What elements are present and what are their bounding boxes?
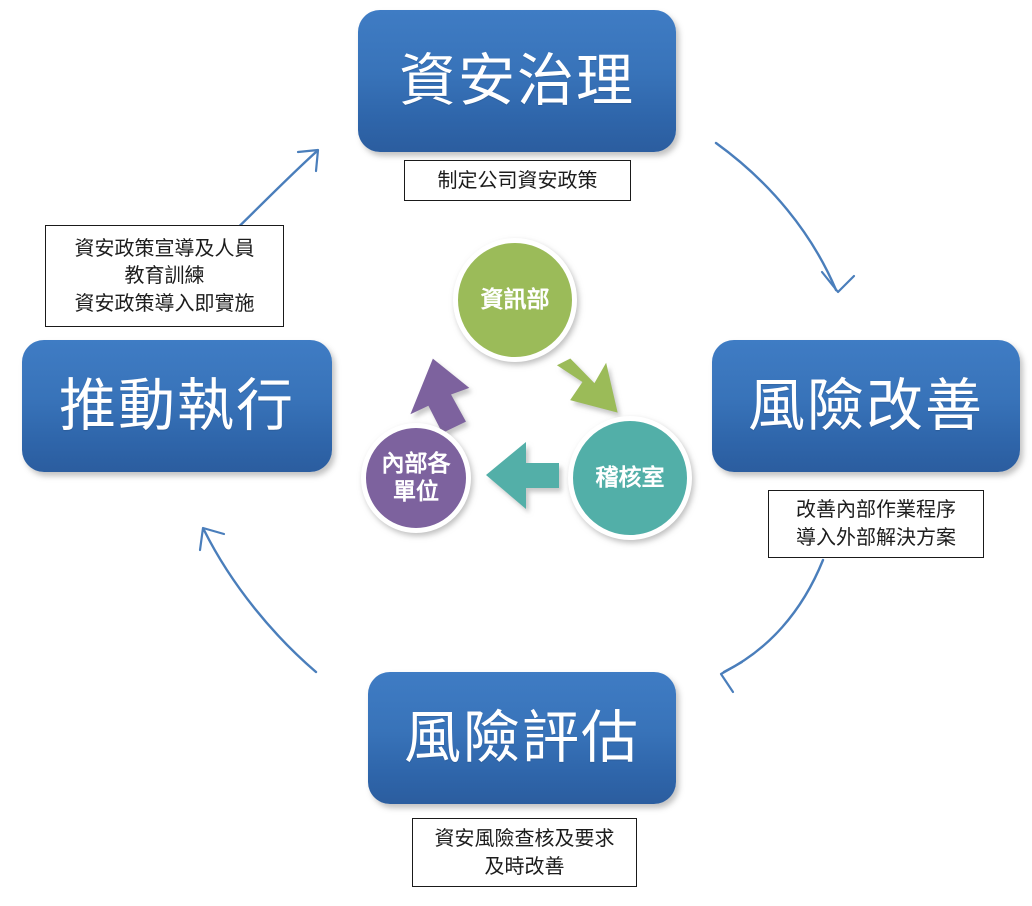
cycle-node-it-department[interactable]: 資訊部 — [453, 238, 577, 362]
diagram-canvas: 資安治理 風險改善 風險評估 推動執行 制定公司資安政策 改善內部作業程序 導入… — [0, 0, 1032, 906]
caption-line: 導入外部解決方案 — [796, 524, 956, 552]
pillar-promotion-execution-label: 推動執行 — [59, 378, 295, 435]
cycle-node-audit-office-label: 稽核室 — [596, 464, 665, 492]
caption-risk-improvement: 改善內部作業程序 導入外部解決方案 — [768, 490, 984, 558]
caption-line: 改善內部作業程序 — [796, 496, 956, 524]
pillar-risk-improvement-label: 風險改善 — [748, 378, 984, 435]
caption-line: 資安政策導入即實施 — [75, 290, 255, 318]
pillar-risk-assessment-label: 風險評估 — [404, 710, 640, 767]
caption-promotion-execution: 資安政策宣導及人員 教育訓練 資安政策導入即實施 — [45, 225, 284, 327]
cycle-node-audit-office[interactable]: 稽核室 — [568, 416, 692, 540]
cycle-arrow-it-to-audit — [551, 354, 626, 412]
caption-line: 制定公司資安政策 — [438, 167, 598, 195]
center-cycle-group: 資訊部 稽核室 內部各 單位 — [330, 220, 710, 570]
cycle-node-internal-units-label-line1: 內部各 — [382, 450, 451, 478]
caption-line: 及時改善 — [485, 853, 565, 881]
arrow-improvement-to-assessment — [721, 560, 823, 692]
caption-line: 資安風險查核及要求 — [435, 825, 615, 853]
pillar-promotion-execution[interactable]: 推動執行 — [22, 340, 332, 472]
arrow-governance-to-improvement — [716, 143, 854, 292]
pillar-risk-improvement[interactable]: 風險改善 — [712, 340, 1020, 472]
pillar-governance-label: 資安治理 — [399, 53, 635, 110]
pillar-risk-assessment[interactable]: 風險評估 — [368, 672, 676, 804]
caption-risk-assessment: 資安風險查核及要求 及時改善 — [412, 818, 637, 887]
pillar-governance[interactable]: 資安治理 — [358, 10, 676, 152]
cycle-node-it-department-label: 資訊部 — [481, 286, 550, 314]
caption-line: 教育訓練 — [125, 262, 205, 290]
cycle-arrow-audit-to-units — [486, 442, 559, 509]
cycle-node-internal-units-label-line2: 單位 — [393, 478, 439, 506]
caption-governance: 制定公司資安政策 — [404, 160, 631, 201]
caption-line: 資安政策宣導及人員 — [75, 235, 255, 263]
arrow-assessment-to-promotion — [200, 528, 316, 672]
cycle-node-internal-units[interactable]: 內部各 單位 — [361, 423, 471, 533]
